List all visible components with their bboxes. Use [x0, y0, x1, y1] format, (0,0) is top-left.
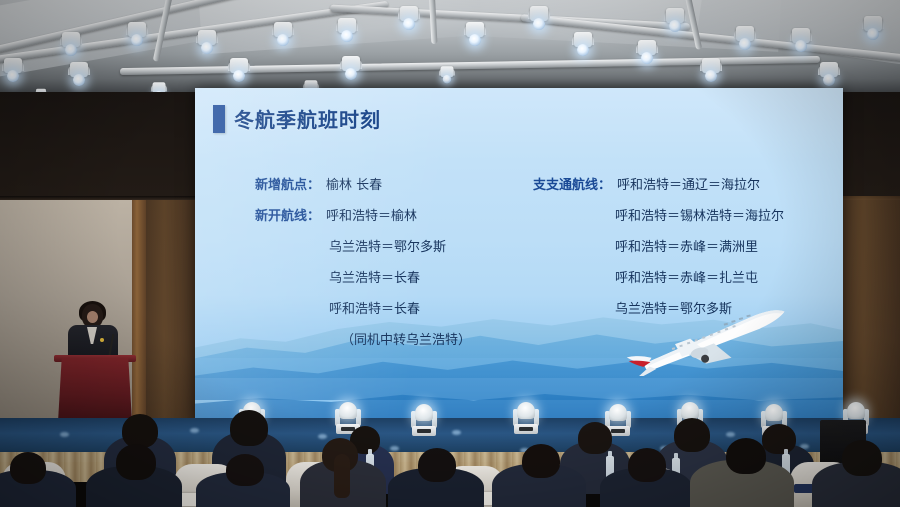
ceiling-spotlight	[398, 6, 420, 36]
ceiling-spotlight	[464, 22, 486, 52]
ceiling-spotlight	[2, 58, 24, 88]
ceiling-spotlight	[60, 32, 82, 62]
list-item: 新增航点： 榆林 长春	[255, 174, 505, 205]
airplane-icon	[609, 306, 795, 376]
speaker-badge	[100, 338, 104, 342]
slide-title: 冬航季航班时刻	[234, 104, 381, 133]
ceiling-spotlight	[790, 28, 812, 58]
list-item: 呼和浩特＝赤峰＝满洲里	[533, 236, 825, 267]
ceiling-spotlight	[862, 16, 884, 46]
slide-title-row: 冬航季航班时刻	[213, 104, 381, 133]
title-accent-bar	[213, 105, 225, 133]
list-item: 新开航线： 呼和浩特＝榆林	[255, 205, 505, 236]
row-label: 新增航点：	[255, 174, 320, 193]
route-text: 呼和浩特＝赤峰＝满洲里	[533, 236, 758, 255]
list-item: 呼和浩特＝长春	[255, 298, 505, 329]
wall-panel-wood-right	[843, 196, 900, 422]
row-value: 呼和浩特＝通辽＝海拉尔	[611, 174, 760, 193]
audience-section	[0, 396, 900, 507]
route-text: 呼和浩特＝赤峰＝扎兰屯	[533, 267, 758, 286]
left-column: 新增航点： 榆林 长春 新开航线： 呼和浩特＝榆林 乌兰浩特＝鄂尔多斯 乌兰浩特…	[255, 174, 505, 360]
ceiling-spotlight	[126, 22, 148, 52]
ceiling-structure	[0, 0, 900, 98]
ceiling-spotlight	[572, 32, 594, 62]
transfer-note: （同机中转乌兰浩特）	[255, 329, 471, 348]
row-value: 榆林 长春	[320, 174, 382, 193]
ceiling-spotlight	[196, 30, 218, 60]
row-label: 新开航线：	[255, 205, 320, 224]
wall-panel-wood	[146, 200, 198, 422]
ceiling-spotlight	[734, 26, 756, 56]
ceiling-spotlight	[664, 8, 686, 38]
ceiling-spotlight	[336, 18, 358, 48]
list-item: 支支通航线： 呼和浩特＝通辽＝海拉尔	[533, 174, 825, 205]
row-value: 呼和浩特＝榆林	[320, 205, 417, 224]
ceiling-spotlight	[272, 22, 294, 52]
row-label: 支支通航线：	[533, 174, 611, 193]
list-item: 呼和浩特＝锡林浩特＝海拉尔	[533, 205, 825, 236]
ceiling-spotlight	[228, 58, 250, 88]
ceiling-spotlight	[68, 62, 90, 92]
conference-photo: 冬航季航班时刻 新增航点： 榆林 长春 新开航线： 呼和浩特＝榆林 乌兰浩特＝鄂…	[0, 0, 900, 507]
projection-screen: 冬航季航班时刻 新增航点： 榆林 长春 新开航线： 呼和浩特＝榆林 乌兰浩特＝鄂…	[195, 88, 843, 422]
route-text: 乌兰浩特＝鄂尔多斯	[255, 236, 446, 255]
route-text: 呼和浩特＝长春	[255, 298, 420, 317]
ceiling-spotlight	[528, 6, 550, 36]
ceiling-spotlight	[636, 40, 658, 70]
route-text: 乌兰浩特＝长春	[255, 267, 420, 286]
ceiling-spotlight	[700, 58, 722, 88]
list-item: 乌兰浩特＝长春	[255, 267, 505, 298]
ponytail	[334, 454, 350, 498]
speaker-face	[87, 311, 98, 323]
list-item: （同机中转乌兰浩特）	[255, 329, 505, 360]
list-item: 呼和浩特＝赤峰＝扎兰屯	[533, 267, 825, 298]
ceiling-spotlight	[340, 56, 362, 86]
list-item: 乌兰浩特＝鄂尔多斯	[255, 236, 505, 267]
ceiling-spotlight	[439, 66, 455, 88]
route-text: 呼和浩特＝锡林浩特＝海拉尔	[533, 205, 784, 224]
